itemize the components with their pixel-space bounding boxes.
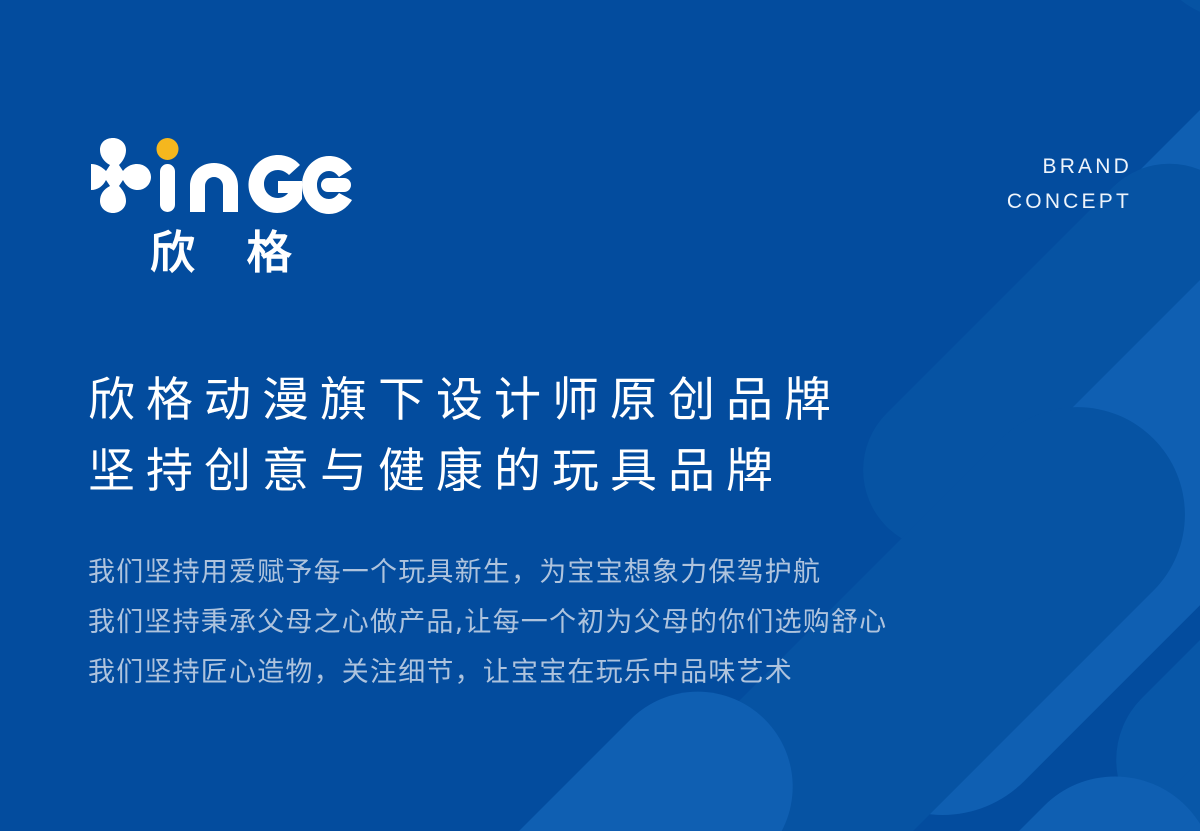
- brand-concept-slide: 欣 格 BRAND CONCEPT 欣格动漫旗下设计师原创品牌 坚持创意与健康的…: [0, 0, 1200, 831]
- background-capsule: [1080, 322, 1200, 831]
- eyebrow-line-concept: CONCEPT: [1007, 185, 1132, 220]
- logo-dot: [157, 138, 179, 160]
- background-capsule: [620, 735, 1200, 831]
- headline-line-1: 欣格动漫旗下设计师原创品牌: [88, 365, 842, 436]
- brand-logo[interactable]: 欣 格: [90, 138, 490, 275]
- background-capsule: [900, 424, 1200, 831]
- eyebrow-line-brand: BRAND: [1007, 150, 1132, 185]
- body-paragraph: 我们坚持用爱赋予每一个玩具新生，为宝宝想象力保驾护航 我们坚持秉承父母之心做产品…: [88, 548, 887, 698]
- eyebrow-brand-concept: BRAND CONCEPT: [1007, 150, 1132, 219]
- background-capsule: [780, 163, 1200, 831]
- background-capsule: [1110, 0, 1200, 57]
- body-line-3: 我们坚持匠心造物，关注细节，让宝宝在玩乐中品味艺术: [88, 648, 887, 698]
- body-line-2: 我们坚持秉承父母之心做产品,让每一个初为父母的你们选购舒心: [88, 598, 887, 648]
- page-title: 欣格动漫旗下设计师原创品牌 坚持创意与健康的玩具品牌: [88, 365, 842, 508]
- logo-chinese-name: 欣 格: [90, 230, 490, 275]
- body-line-1: 我们坚持用爱赋予每一个玩具新生，为宝宝想象力保驾护航: [88, 548, 887, 598]
- headline-line-2: 坚持创意与健康的玩具品牌: [88, 436, 842, 507]
- logo-wordmark: [90, 138, 360, 214]
